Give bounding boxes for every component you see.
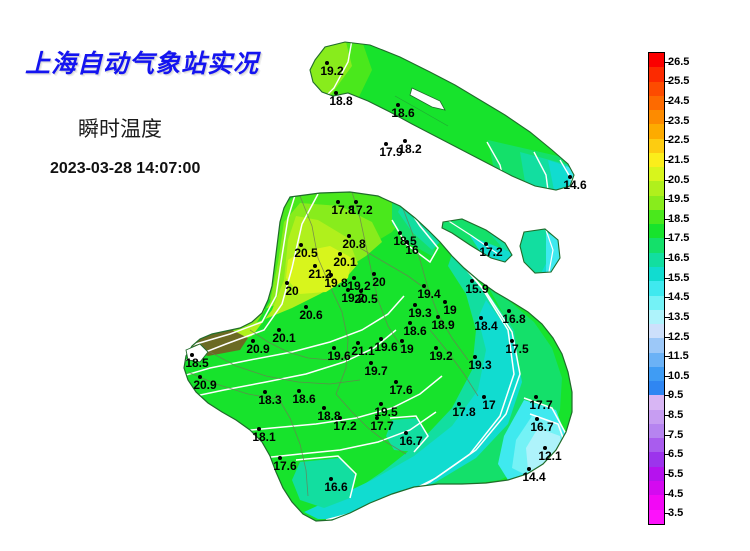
colorbar-segment bbox=[649, 296, 664, 310]
colorbar-segment bbox=[649, 510, 664, 524]
station-value: 20.6 bbox=[294, 309, 328, 321]
colorbar-tick-label: 6.5 bbox=[668, 449, 683, 460]
colorbar-tick-label: 26.5 bbox=[668, 57, 689, 68]
colorbar-segment bbox=[649, 353, 664, 367]
station-value: 19.2 bbox=[424, 350, 458, 362]
station-value: 18.5 bbox=[180, 357, 214, 369]
station-value: 17.6 bbox=[268, 460, 302, 472]
station-value: 17.2 bbox=[328, 420, 362, 432]
station-value: 20.9 bbox=[188, 379, 222, 391]
station-value: 20 bbox=[275, 285, 309, 297]
colorbar-tick-label: 13.5 bbox=[668, 312, 689, 323]
station-value: 14.4 bbox=[517, 471, 551, 483]
station-value: 14.6 bbox=[558, 179, 592, 191]
station-value: 17.7 bbox=[524, 399, 558, 411]
colorbar-segment bbox=[649, 438, 664, 452]
colorbar-segment bbox=[649, 281, 664, 295]
colorbar-segment bbox=[649, 495, 664, 509]
station-value: 20.1 bbox=[328, 256, 362, 268]
colorbar-labels: 26.525.524.523.522.521.520.519.518.517.5… bbox=[668, 52, 748, 525]
colorbar-segment bbox=[649, 210, 664, 224]
colorbar-tick-label: 22.5 bbox=[668, 135, 689, 146]
colorbar-segment bbox=[649, 82, 664, 96]
station-value: 18.3 bbox=[253, 394, 287, 406]
colorbar-tick-label: 4.5 bbox=[668, 489, 683, 500]
colorbar-segment bbox=[649, 481, 664, 495]
colorbar-tick-label: 18.5 bbox=[668, 214, 689, 225]
weather-map-page: 19.218.818.617.918.214.617.817.218.51617… bbox=[0, 0, 750, 551]
colorbar-segment bbox=[649, 381, 664, 395]
observation-timestamp: 2023-03-28 14:07:00 bbox=[50, 160, 200, 178]
station-value: 19 bbox=[390, 343, 424, 355]
colorbar-segment bbox=[649, 167, 664, 181]
station-value: 17.8 bbox=[447, 406, 481, 418]
station-value: 19.5 bbox=[369, 406, 403, 418]
colorbar-segment bbox=[649, 424, 664, 438]
station-value: 18.9 bbox=[426, 319, 460, 331]
station-value: 19.2 bbox=[315, 65, 349, 77]
colorbar-segment bbox=[649, 238, 664, 252]
colorbar-segment bbox=[649, 253, 664, 267]
station-value: 20 bbox=[362, 276, 396, 288]
station-value: 18.1 bbox=[247, 431, 281, 443]
station-value: 19.4 bbox=[412, 288, 446, 300]
colorbar-segment bbox=[649, 467, 664, 481]
station-value: 19.6 bbox=[322, 350, 356, 362]
colorbar-segment bbox=[649, 96, 664, 110]
station-value: 16 bbox=[395, 244, 429, 256]
colorbar-tick-label: 5.5 bbox=[668, 469, 683, 480]
colorbar-tick-label: 25.5 bbox=[668, 76, 689, 87]
colorbar-segment bbox=[649, 324, 664, 338]
colorbar-segment bbox=[649, 124, 664, 138]
colorbar-segment bbox=[649, 181, 664, 195]
colorbar-tick-label: 11.5 bbox=[668, 351, 689, 362]
colorbar-segment bbox=[649, 452, 664, 466]
colorbar-segment bbox=[649, 53, 664, 67]
colorbar-tick-label: 23.5 bbox=[668, 116, 689, 127]
station-value: 17.2 bbox=[344, 204, 378, 216]
colorbar-segment bbox=[649, 196, 664, 210]
map-canvas[interactable]: 19.218.818.617.918.214.617.817.218.51617… bbox=[0, 0, 640, 551]
colorbar-tick-label: 3.5 bbox=[668, 508, 683, 519]
station-value: 18.6 bbox=[386, 107, 420, 119]
colorbar-tick-label: 24.5 bbox=[668, 96, 689, 107]
station-value: 19.3 bbox=[463, 359, 497, 371]
colorbar-tick-label: 16.5 bbox=[668, 253, 689, 264]
colorbar-tick-label: 7.5 bbox=[668, 430, 683, 441]
colorbar-tick-label: 17.5 bbox=[668, 233, 689, 244]
station-value: 17.7 bbox=[365, 420, 399, 432]
colorbar-tick-label: 8.5 bbox=[668, 410, 683, 421]
station-value: 20.9 bbox=[241, 343, 275, 355]
colorbar-tick-label: 21.5 bbox=[668, 155, 689, 166]
map-subtitle: 瞬时温度 bbox=[78, 113, 162, 143]
colorbar-tick-label: 12.5 bbox=[668, 332, 689, 343]
colorbar-segment bbox=[649, 310, 664, 324]
colorbar-segment bbox=[649, 410, 664, 424]
station-value: 12.1 bbox=[533, 450, 567, 462]
station-value: 16.7 bbox=[525, 421, 559, 433]
colorbar-tick-label: 15.5 bbox=[668, 273, 689, 284]
station-value: 18.2 bbox=[393, 143, 427, 155]
station-value: 18.6 bbox=[287, 393, 321, 405]
colorbar-tick-label: 14.5 bbox=[668, 292, 689, 303]
colorbar-tick-label: 10.5 bbox=[668, 371, 689, 382]
station-value: 17.5 bbox=[500, 343, 534, 355]
station-value: 15.9 bbox=[460, 283, 494, 295]
colorbar-segment bbox=[649, 338, 664, 352]
colorbar-segment bbox=[649, 395, 664, 409]
station-value: 16.7 bbox=[394, 435, 428, 447]
station-value: 17.6 bbox=[384, 384, 418, 396]
colorbar-gradient bbox=[648, 52, 665, 525]
station-value: 16.6 bbox=[319, 481, 353, 493]
colorbar-segment bbox=[649, 153, 664, 167]
station-value: 19.7 bbox=[359, 365, 393, 377]
colorbar-segment bbox=[649, 267, 664, 281]
colorbar-tick-label: 19.5 bbox=[668, 194, 689, 205]
station-value: 20.8 bbox=[337, 238, 371, 250]
colorbar-segment bbox=[649, 110, 664, 124]
page-title: 上海自动气象站实况 bbox=[25, 44, 259, 80]
colorbar-segment bbox=[649, 224, 664, 238]
station-value: 18.8 bbox=[324, 95, 358, 107]
station-value: 20.5 bbox=[349, 293, 383, 305]
colorbar-segment bbox=[649, 367, 664, 381]
colorbar-tick-label: 9.5 bbox=[668, 390, 683, 401]
station-value: 16.8 bbox=[497, 313, 531, 325]
colorbar-tick-label: 20.5 bbox=[668, 175, 689, 186]
station-value: 20.5 bbox=[289, 247, 323, 259]
station-value: 17.2 bbox=[474, 246, 508, 258]
colorbar-segment bbox=[649, 67, 664, 81]
colorbar-segment bbox=[649, 139, 664, 153]
